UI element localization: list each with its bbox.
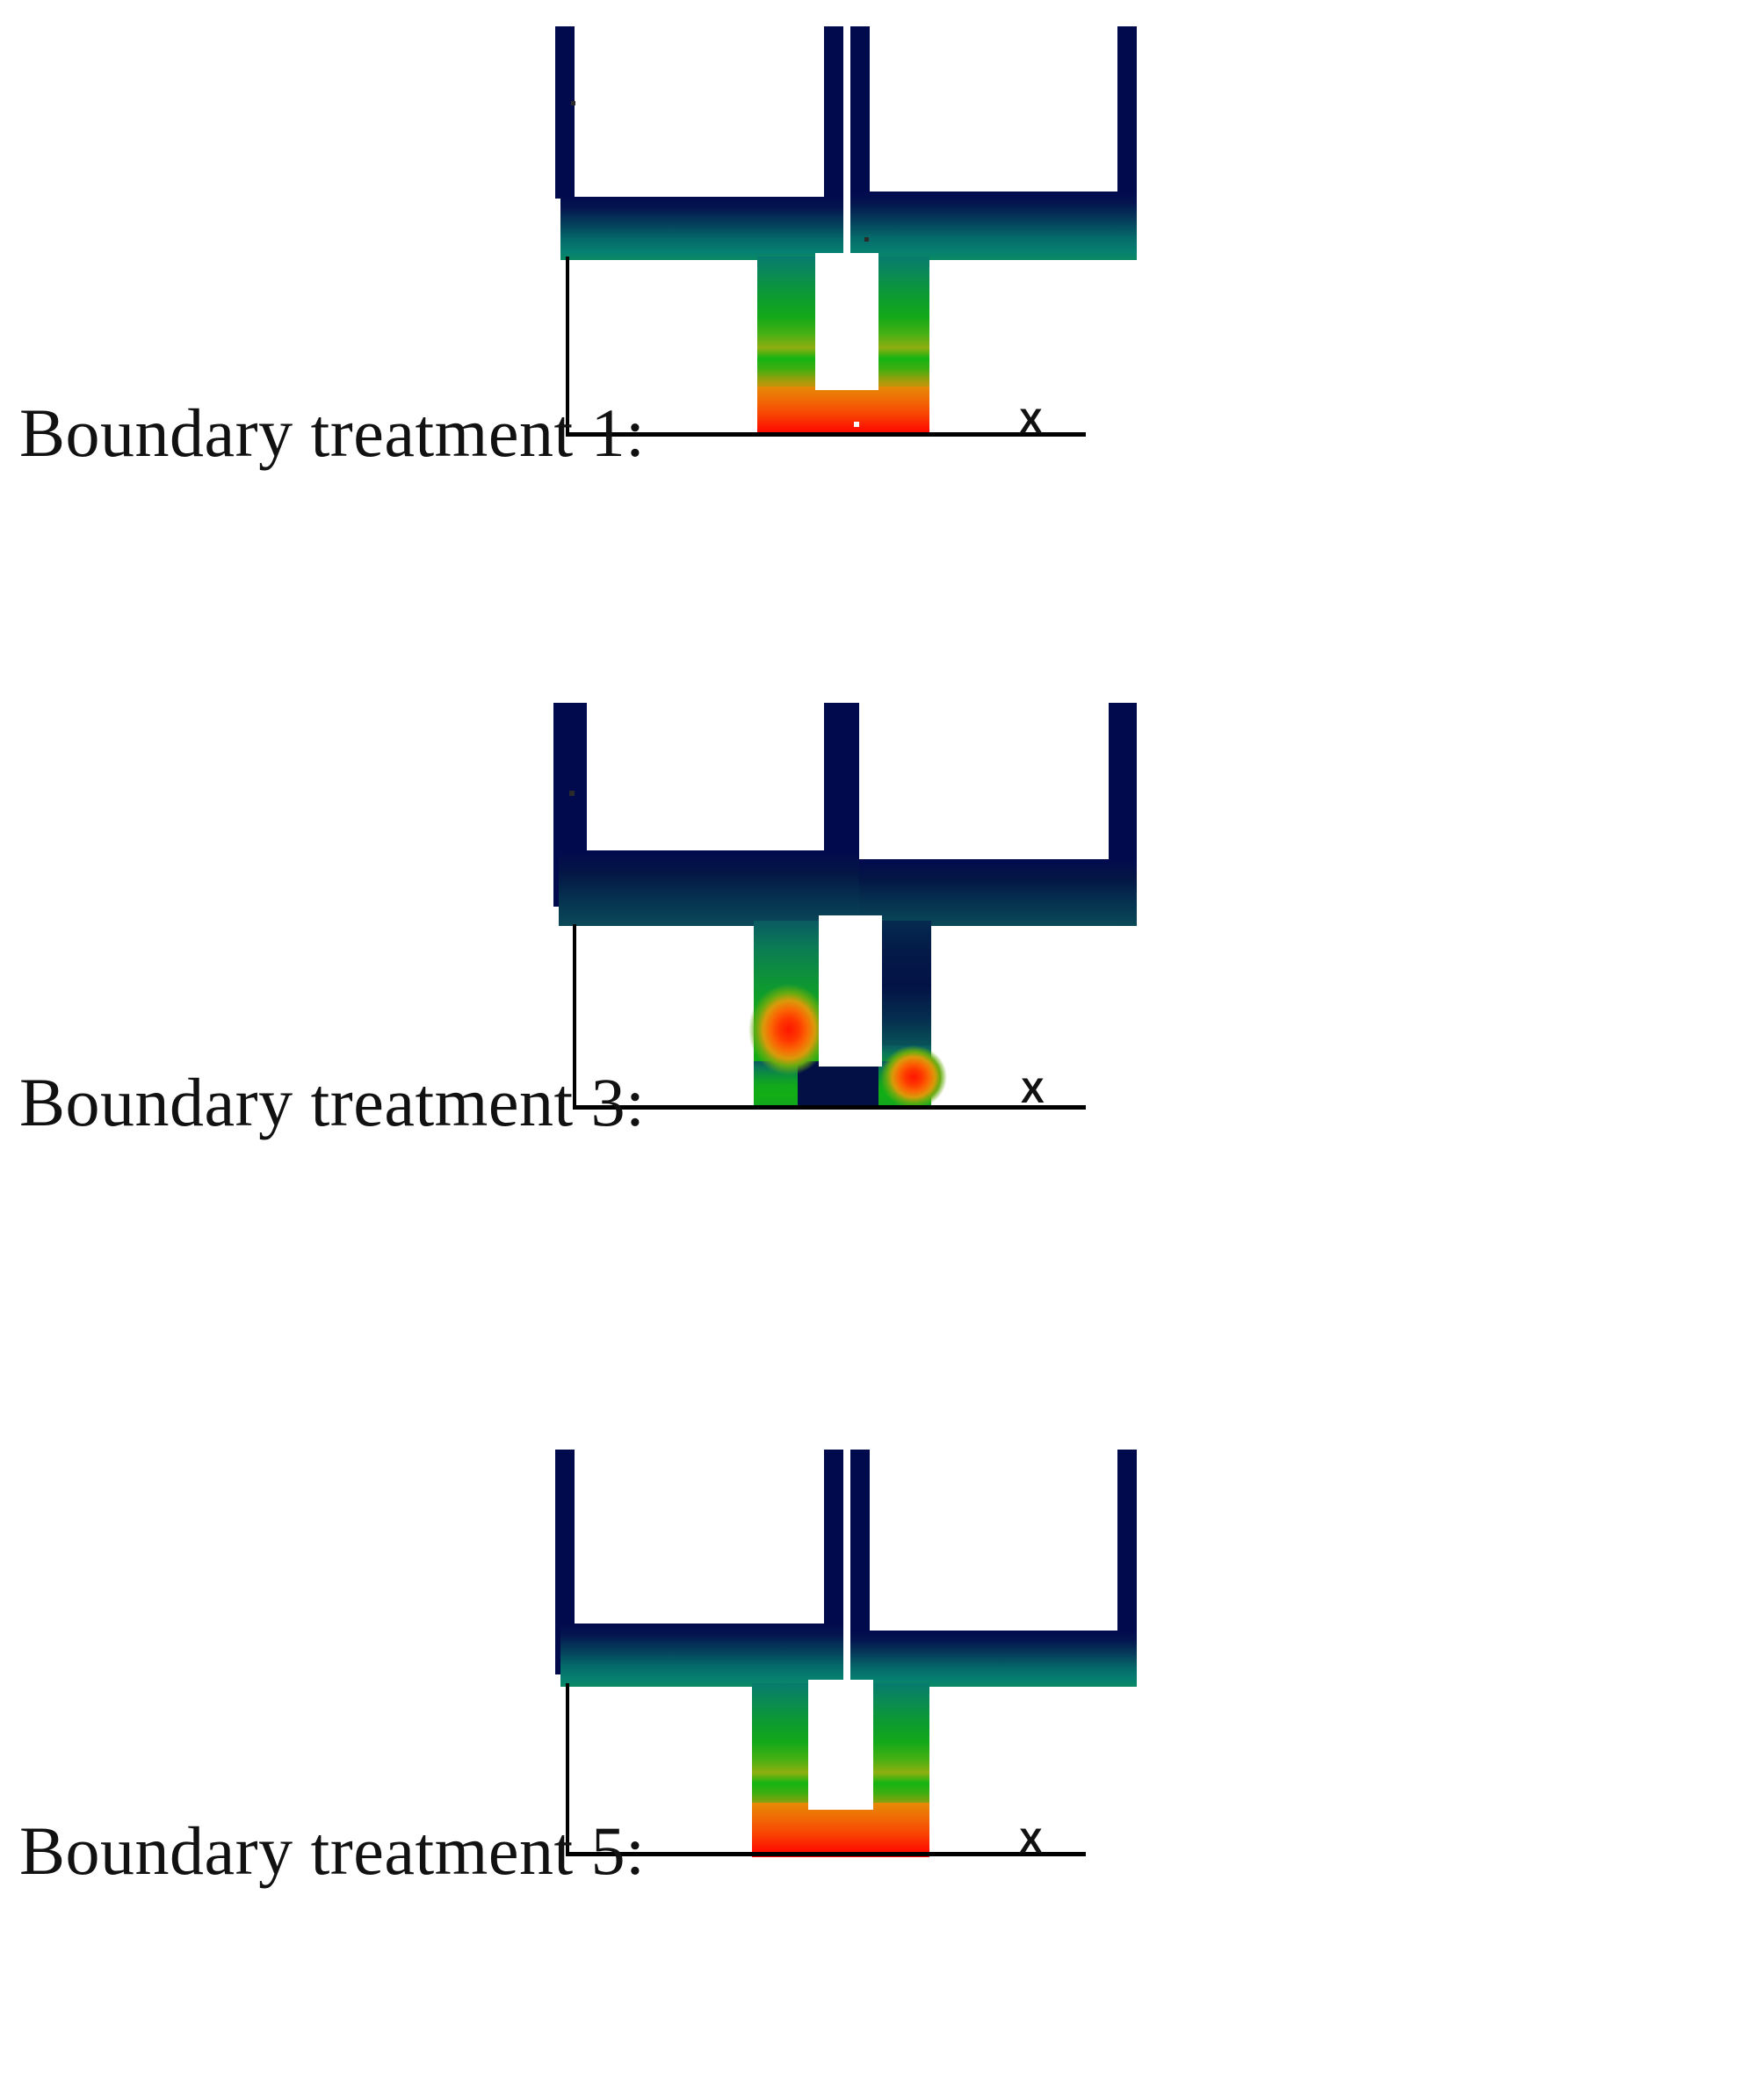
panel-label-3: Boundary treatment 5: — [19, 1812, 645, 1891]
contour-base-slab-3 — [752, 1803, 929, 1857]
panel-boundary-treatment-3: X Boundary treatment 3: — [0, 694, 1764, 1406]
artifact-speck-1a — [571, 101, 575, 105]
slot-void-2 — [819, 915, 882, 1067]
panel-boundary-treatment-5: X Boundary treatment 5: — [0, 1406, 1764, 2090]
contour-stage-3: X Boundary treatment 5: — [0, 1406, 1764, 2090]
contour-band-left-1 — [560, 197, 843, 260]
x-axis-tick-label-1: X — [1019, 404, 1043, 439]
contour-leg-right-2 — [878, 921, 931, 1063]
x-axis-line-2 — [573, 1105, 1086, 1110]
panel-boundary-treatment-1: X Boundary treatment 1: — [0, 0, 1764, 694]
contour-band-right-1 — [850, 192, 1137, 260]
artifact-speck-1c — [854, 422, 859, 427]
contour-base-slab-1 — [757, 387, 929, 436]
panel-label-1: Boundary treatment 1: — [19, 394, 645, 473]
artifact-speck-3a — [975, 1625, 984, 1631]
riser-right-outer-1 — [1117, 26, 1137, 199]
contour-band-left-2 — [559, 850, 859, 926]
panel-label-2: Boundary treatment 3: — [19, 1063, 645, 1142]
hotspot-right-leg-2 — [880, 1045, 947, 1109]
hotspot-left-leg-2 — [748, 984, 829, 1075]
contour-band-right-3 — [850, 1631, 1137, 1687]
x-axis-tick-label-2: X — [1021, 1074, 1045, 1109]
riser-right-outer-3 — [1117, 1450, 1137, 1660]
riser-left-outer-1 — [555, 26, 575, 199]
slot-void-1 — [815, 253, 878, 390]
slot-void-3 — [808, 1680, 873, 1810]
contour-band-left-3 — [560, 1624, 843, 1687]
contour-band-right-2 — [859, 859, 1137, 926]
artifact-speck-1b — [864, 237, 869, 242]
contour-stage-1: X Boundary treatment 1: — [0, 0, 1764, 694]
x-axis-tick-label-3: X — [1019, 1824, 1043, 1859]
artifact-speck-2a — [569, 791, 575, 796]
contour-stage-2: X Boundary treatment 3: — [0, 694, 1764, 1406]
